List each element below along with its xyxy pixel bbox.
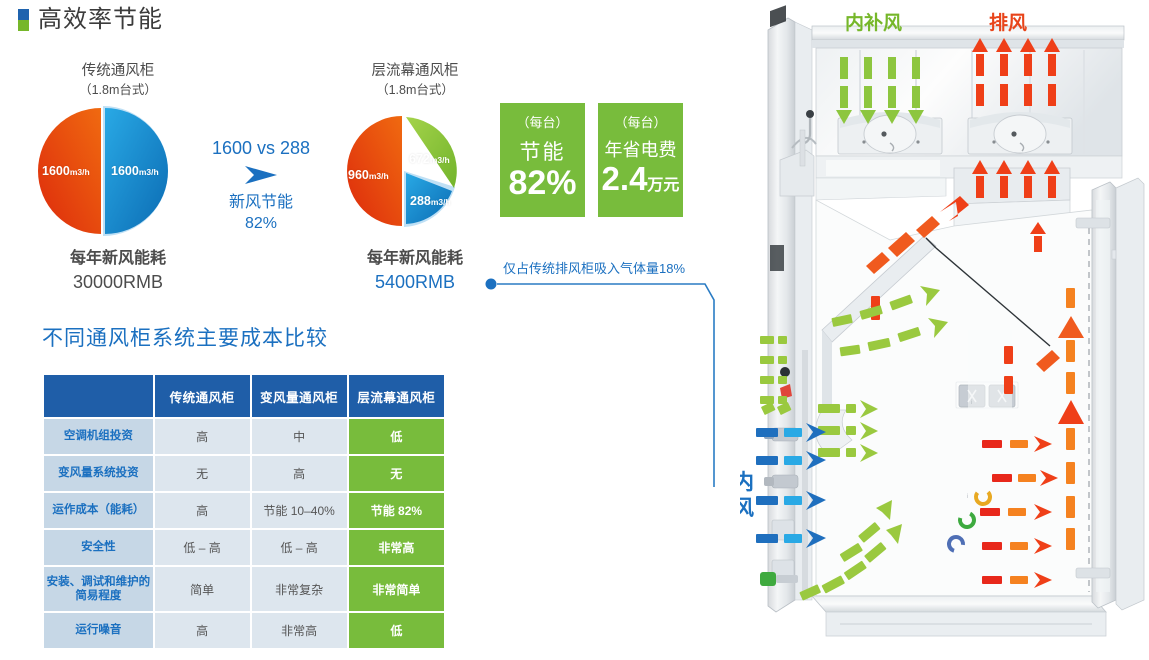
table-cell: 低 – 高: [155, 530, 250, 565]
table-cell-highlight: 非常简单: [349, 567, 444, 611]
pie-slice-label-right-exhaust: 960m3/h: [348, 168, 389, 182]
table-cell: 高: [155, 419, 250, 454]
fume-hood-diagram: 内补风 排风: [740, 0, 1149, 660]
table-row: 运行噪音 高 非常高 低: [44, 613, 444, 648]
pie-slice-label-left-supply: 1600m3/h: [111, 164, 159, 178]
callout-leader-line: [484, 272, 734, 502]
badge-annual-savings-top: （每台）: [614, 112, 666, 131]
pie-caption-laminar: 层流幕通风柜 （1.8m台式）: [325, 62, 505, 98]
table-cell: 非常复杂: [252, 567, 347, 611]
table-row-label: 变风量系统投资: [44, 456, 153, 491]
table-cell: 高: [155, 493, 250, 528]
diagram-label-room-line2: 新风: [740, 496, 754, 522]
table-row-label: 安全性: [44, 530, 153, 565]
pie-caption-laminar-sub: （1.8m台式）: [325, 82, 505, 99]
table-header-row: 传统通风柜 变风量通风柜 层流幕通风柜: [44, 375, 444, 417]
comparison-saving-line1: 新风节能: [196, 193, 326, 214]
pie-chart-laminar: 960m3/h 672m3/h 288m3/h: [340, 112, 470, 230]
table-row-label: 空调机组投资: [44, 419, 153, 454]
table-cell: 简单: [155, 567, 250, 611]
pie-chart-traditional: 1600m3/h 1600m3/h: [31, 104, 207, 238]
table-row: 运作成本（能耗） 高 节能 10–40% 节能 82%: [44, 493, 444, 528]
table-header-laminar: 层流幕通风柜: [349, 375, 444, 417]
table-title: 不同通风柜系统主要成本比较: [42, 322, 328, 352]
table-cell-highlight: 非常高: [349, 530, 444, 565]
pie-slice-label-right-supply: 672m3/h: [409, 152, 450, 166]
table-cell: 低 – 高: [252, 530, 347, 565]
table-cell-highlight: 低: [349, 613, 444, 648]
badge-energy-saving-mid: 节能: [520, 136, 566, 166]
blower-right: [968, 112, 1072, 154]
pie-footer-laminar: 每年新风能耗 5400RMB: [325, 248, 505, 294]
table-cell: 高: [252, 456, 347, 491]
table-cell: 节能 10–40%: [252, 493, 347, 528]
pie-footer-laminar-line1: 每年新风能耗: [325, 248, 505, 270]
table-cell: 高: [155, 613, 250, 648]
pie-slice-label-right-fresh: 288m3/h: [410, 194, 451, 208]
pie-slice-label-left-exhaust: 1600m3/h: [42, 164, 90, 178]
diagram-label-exhaust-air: 排风: [989, 8, 1027, 35]
badge-annual-savings: （每台） 年省电费 2.4万元: [598, 103, 683, 217]
table-row: 安装、调试和维护的简易程度 简单 非常复杂 非常简单: [44, 567, 444, 611]
pie-caption-traditional-sub: （1.8m台式）: [38, 82, 198, 99]
table-header-blank: [44, 375, 153, 417]
pie-footer-laminar-line2: 5400RMB: [325, 270, 505, 294]
table-cell-highlight: 低: [349, 419, 444, 454]
left-content-panel: 传统通风柜 （1.8m台式） 1600m3/h 1600m3/h: [0, 0, 740, 660]
badge-annual-savings-mid: 年省电费: [605, 136, 677, 162]
svg-text:i: i: [967, 494, 968, 500]
comparison-saving-line2: 82%: [196, 214, 326, 235]
pie-footer-traditional-line2: 30000RMB: [38, 270, 198, 294]
comparison-summary: 1600 vs 288 新风节能 82%: [196, 138, 326, 235]
table-header-vav: 变风量通风柜: [252, 375, 347, 417]
table-cell: 中: [252, 419, 347, 454]
diagram-label-room-line1: 室内: [740, 470, 754, 496]
svg-text:i: i: [971, 400, 972, 406]
pie-footer-traditional: 每年新风能耗 30000RMB: [38, 248, 198, 294]
table-row-label: 运行噪音: [44, 613, 153, 648]
pie-footer-traditional-line1: 每年新风能耗: [38, 248, 198, 270]
pie-caption-traditional-main: 传统通风柜: [38, 62, 198, 82]
table-cell-highlight: 节能 82%: [349, 493, 444, 528]
table-row-label: 运作成本（能耗）: [44, 493, 153, 528]
cost-comparison-table: 传统通风柜 变风量通风柜 层流幕通风柜 空调机组投资 高 中 低 变风量系统投资…: [42, 373, 446, 650]
arrow-right-icon: [196, 164, 326, 191]
table-row: 空调机组投资 高 中 低: [44, 419, 444, 454]
badge-energy-saving-value: 82%: [508, 166, 576, 202]
diagram-label-supply-air: 内补风: [845, 8, 902, 35]
badge-annual-savings-value: 2.4万元: [602, 162, 680, 197]
badge-energy-saving: （每台） 节能 82%: [500, 103, 585, 217]
comparison-vs-text: 1600 vs 288: [196, 138, 326, 159]
table-row-label: 安装、调试和维护的简易程度: [44, 567, 153, 611]
table-cell: 非常高: [252, 613, 347, 648]
table-header-traditional: 传统通风柜: [155, 375, 250, 417]
table-row: 变风量系统投资 无 高 无: [44, 456, 444, 491]
fume-hood-illustration: i i: [740, 0, 1149, 660]
table-cell-highlight: 无: [349, 456, 444, 491]
table-cell: 无: [155, 456, 250, 491]
badge-energy-saving-top: （每台）: [516, 112, 568, 131]
table-row: 安全性 低 – 高 低 – 高 非常高: [44, 530, 444, 565]
diagram-label-room-fresh-air: 室内 新风: [740, 470, 754, 523]
pie-caption-traditional: 传统通风柜 （1.8m台式）: [38, 62, 198, 98]
pie-caption-laminar-main: 层流幕通风柜: [325, 62, 505, 82]
